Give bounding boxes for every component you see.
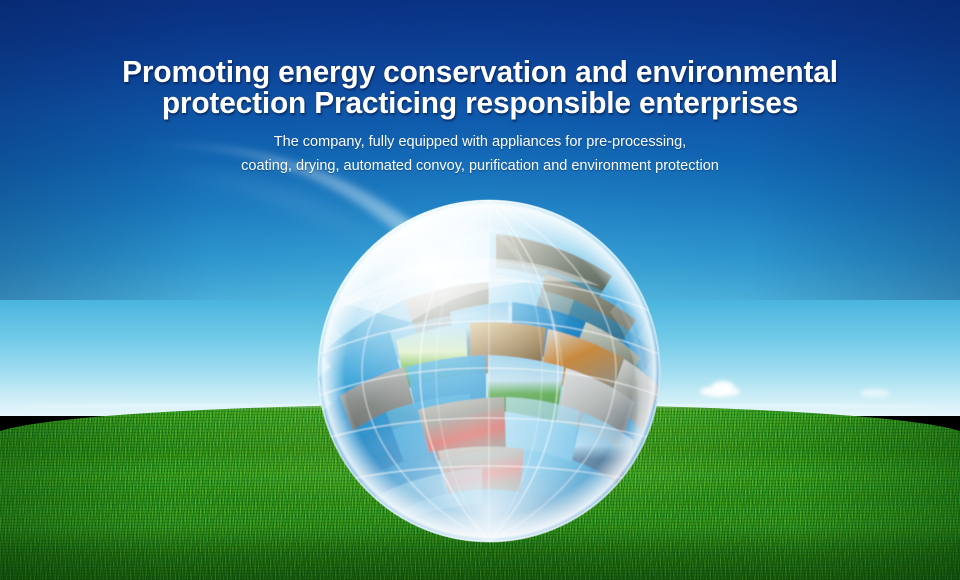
subheadline-line-2: coating, drying, automated convoy, purif… bbox=[0, 154, 960, 178]
small-cloud-icon bbox=[860, 389, 890, 397]
subheadline-line-1: The company, fully equipped with applian… bbox=[0, 130, 960, 154]
photo-mosaic-globe bbox=[300, 182, 678, 560]
promo-banner: Promoting energy conservation and enviro… bbox=[0, 0, 960, 580]
small-cloud-icon bbox=[712, 381, 734, 392]
headline-line-1: Promoting energy conservation and enviro… bbox=[17, 56, 943, 87]
headline: Promoting energy conservation and enviro… bbox=[17, 56, 943, 118]
globe-glass-rim bbox=[318, 200, 660, 542]
headline-line-2: protection Practicing responsible enterp… bbox=[17, 87, 943, 118]
globe-graphic bbox=[300, 182, 678, 560]
subheadline: The company, fully equipped with applian… bbox=[0, 130, 960, 178]
